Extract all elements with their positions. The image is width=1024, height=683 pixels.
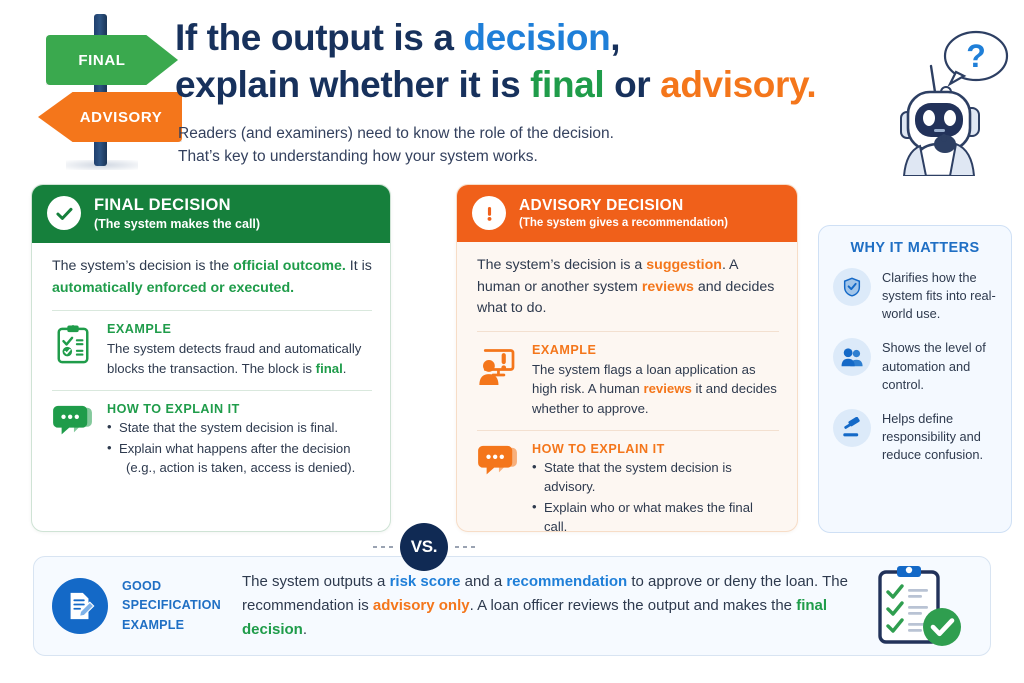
final-bullet-2-text: Explain what happens after the decision (119, 441, 350, 456)
why-item-2: Shows the level of automation and contro… (833, 338, 997, 393)
advisory-bullet-1: State that the system decision is adviso… (532, 459, 779, 497)
final-card-title: FINAL DECISION (94, 196, 260, 215)
final-explain-title: HOW TO EXPLAIN IT (107, 402, 372, 416)
document-pencil-icon (52, 578, 108, 634)
vs-dash-right (455, 546, 475, 548)
final-example-title: EXAMPLE (107, 322, 372, 336)
bot-recommendation: recommendation (506, 573, 627, 590)
good-spec-label: GOOD SPECIFICATION EXAMPLE (122, 577, 230, 636)
advisory-example-text: The system flags a loan application as h… (532, 360, 779, 419)
vs-label: VS. (400, 523, 448, 571)
speech-bubbles-icon (52, 402, 94, 446)
advisory-arrow-sign: ADVISORY (38, 92, 182, 142)
title-comma: , (610, 17, 620, 58)
final-bullet-2: Explain what happens after the decision(… (107, 440, 372, 478)
final-example-section: EXAMPLE The system detects fraud and aut… (52, 311, 372, 378)
good-spec-label-1: GOOD (122, 577, 230, 597)
advisory-card-title: ADVISORY DECISION (519, 197, 728, 215)
final-arrow-sign: FINAL (46, 35, 178, 85)
robot-mascot-icon: ? (898, 8, 1018, 176)
good-spec-label-2: SPECIFICATION (122, 596, 230, 616)
bot-text-g: . A loan officer reviews the output and … (470, 597, 797, 614)
advisory-card-body: The system’s decision is a suggestion. A… (457, 242, 797, 532)
shield-check-icon (833, 268, 871, 306)
person-monitor-alert-icon (477, 343, 519, 387)
header: FINAL ADVISORY If the output is a decisi… (0, 0, 1024, 178)
vs-dash-left (373, 546, 393, 548)
good-spec-label-3: EXAMPLE (122, 616, 230, 636)
why-item-1: Clarifies how the system fits into real-… (833, 268, 997, 323)
why-item-1-text: Clarifies how the system fits into real-… (882, 268, 997, 323)
exclamation-circle-icon (472, 196, 506, 230)
advisory-explain-title: HOW TO EXPLAIN IT (532, 442, 779, 456)
final-bullet-2-cont: (e.g., action is taken, access is denied… (119, 459, 372, 478)
final-intro-a: The system’s decision is the (52, 258, 233, 274)
why-it-matters-panel: WHY IT MATTERS Clarifies how the system … (818, 225, 1012, 533)
advisory-intro-a: The system’s decision is a (477, 257, 646, 273)
why-item-3: Helps define responsibility and reduce c… (833, 409, 997, 464)
bot-text-i: . (303, 621, 307, 638)
advisory-example-section: EXAMPLE The system flags a loan applicat… (477, 332, 779, 419)
final-intro-c: It is (346, 258, 372, 274)
advisory-decision-card: ADVISORY DECISION (The system gives a re… (456, 184, 798, 532)
page-subtitle: Readers (and examiners) need to know the… (178, 122, 614, 169)
signpost-graphic: FINAL ADVISORY (36, 8, 166, 168)
svg-text:?: ? (966, 38, 986, 74)
title-final: final (530, 64, 604, 105)
speech-bubbles-icon (477, 442, 519, 486)
advisory-card-subtitle: (The system gives a recommendation) (519, 217, 728, 229)
final-example-text: The system detects fraud and automatical… (107, 339, 372, 378)
final-example-c: . (343, 361, 347, 376)
infographic-page: FINAL ADVISORY If the output is a decisi… (0, 0, 1024, 683)
advisory-explain-bullets: State that the system decision is adviso… (532, 459, 779, 532)
subtitle-line-2: That’s key to understanding how your sys… (178, 145, 614, 168)
final-card-subtitle: (The system makes the call) (94, 217, 260, 231)
title-or: or (604, 64, 660, 105)
title-decision: decision (463, 17, 610, 58)
people-icon (833, 338, 871, 376)
final-explain-bullets: State that the system decision is final.… (107, 419, 372, 478)
final-decision-card: FINAL DECISION (The system makes the cal… (31, 184, 391, 532)
advisory-card-intro: The system’s decision is a suggestion. A… (477, 255, 779, 320)
check-circle-icon (47, 196, 81, 230)
page-title: If the output is a decision, explain whe… (175, 14, 910, 109)
good-specification-example-bar: GOOD SPECIFICATION EXAMPLE The system ou… (33, 556, 991, 656)
bot-advisory-only: advisory only (373, 597, 470, 614)
final-card-body: The system’s decision is the official ou… (32, 243, 390, 490)
advisory-intro-suggestion: suggestion (646, 257, 722, 273)
title-part-1: If the output is a (175, 17, 463, 58)
advisory-intro-reviews: reviews (642, 279, 694, 295)
title-advisory: advisory (660, 64, 806, 105)
title-part-2: explain whether it is (175, 64, 530, 105)
final-explain-section: HOW TO EXPLAIN IT State that the system … (52, 391, 372, 480)
why-item-3-text: Helps define responsibility and reduce c… (882, 409, 997, 464)
subtitle-line-1: Readers (and examiners) need to know the… (178, 122, 614, 145)
advisory-explain-section: HOW TO EXPLAIN IT State that the system … (477, 431, 779, 532)
final-intro-official: official outcome. (233, 258, 346, 274)
good-spec-text: The system outputs a risk score and a re… (242, 570, 866, 643)
advisory-example-reviews: reviews (643, 381, 691, 396)
final-arrow-label: FINAL (78, 52, 125, 69)
why-it-matters-title: WHY IT MATTERS (833, 240, 997, 256)
advisory-bullet-2: Explain who or what makes the final call… (532, 499, 779, 532)
versus-badge: VS. (395, 518, 453, 576)
final-intro-auto: automatically enforced or executed. (52, 280, 294, 296)
gavel-icon (833, 409, 871, 447)
final-card-intro: The system’s decision is the official ou… (52, 256, 372, 299)
why-item-2-text: Shows the level of automation and contro… (882, 338, 997, 393)
bot-text-a: The system outputs a (242, 573, 390, 590)
clipboard-checklist-icon (866, 564, 970, 648)
title-period: . (806, 64, 816, 105)
final-bullet-1: State that the system decision is final. (107, 419, 372, 438)
final-example-final: final (316, 361, 343, 376)
final-card-header: FINAL DECISION (The system makes the cal… (32, 185, 390, 243)
bot-text-c: and a (460, 573, 506, 590)
advisory-card-header: ADVISORY DECISION (The system gives a re… (457, 185, 797, 242)
advisory-arrow-label: ADVISORY (80, 109, 163, 126)
clipboard-check-icon (52, 322, 94, 366)
advisory-example-title: EXAMPLE (532, 343, 779, 357)
